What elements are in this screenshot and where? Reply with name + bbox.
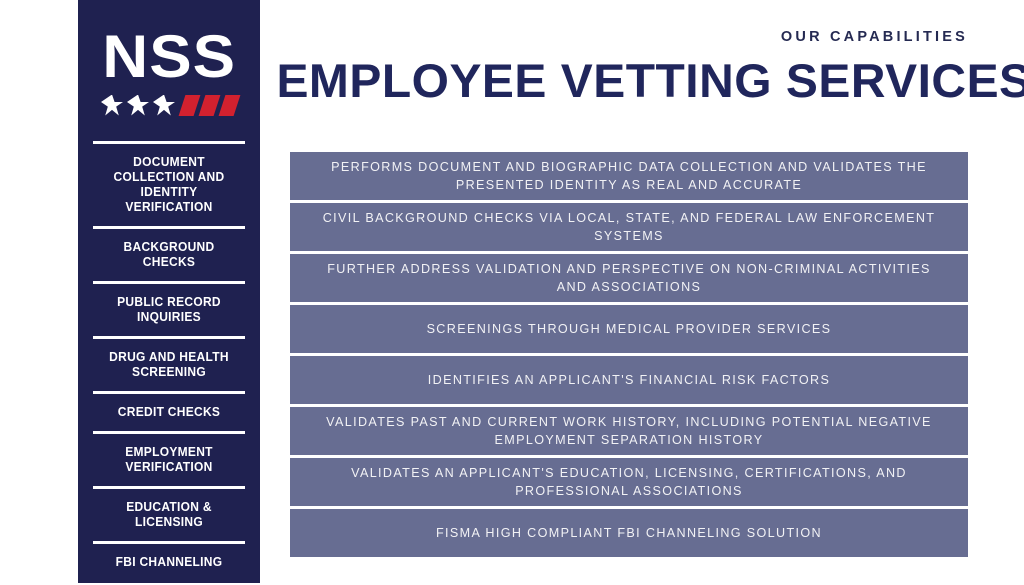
- star-icon: [101, 95, 123, 116]
- capability-bar-text: FISMA HIGH COMPLIANT FBI CHANNELING SOLU…: [436, 524, 822, 542]
- capability-bar-text: FURTHER ADDRESS VALIDATION AND PERSPECTI…: [316, 260, 942, 296]
- capability-bar[interactable]: FISMA HIGH COMPLIANT FBI CHANNELING SOLU…: [290, 509, 968, 557]
- capability-bar-text: CIVIL BACKGROUND CHECKS VIA LOCAL, STATE…: [316, 209, 942, 245]
- page-title: EMPLOYEE VETTING SERVICES: [276, 54, 968, 108]
- sidebar-item-employment-verification[interactable]: EMPLOYMENT VERIFICATION: [96, 434, 242, 486]
- sidebar-item-education-and-licensing[interactable]: EDUCATION & LICENSING: [96, 489, 242, 541]
- stripe-icon: [219, 95, 241, 116]
- stripes-icon: [182, 95, 237, 116]
- sidebar-item-credit-checks[interactable]: CREDIT CHECKS: [96, 394, 242, 431]
- capability-bar[interactable]: SCREENINGS THROUGH MEDICAL PROVIDER SERV…: [290, 305, 968, 353]
- sidebar: NSS DOCUMENT COLLECTION AND IDENTITY VER…: [78, 0, 260, 583]
- sidebar-item-drug-and-health-screening[interactable]: DRUG AND HEALTH SCREENING: [96, 339, 242, 391]
- capability-bar[interactable]: VALIDATES PAST AND CURRENT WORK HISTORY,…: [290, 407, 968, 455]
- capability-bar-text: PERFORMS DOCUMENT AND BIOGRAPHIC DATA CO…: [316, 158, 942, 194]
- logo-wordmark: NSS: [102, 26, 236, 88]
- capability-bar-text: VALIDATES PAST AND CURRENT WORK HISTORY,…: [316, 413, 942, 449]
- capability-bar-text: SCREENINGS THROUGH MEDICAL PROVIDER SERV…: [427, 320, 832, 338]
- slide-canvas: NSS DOCUMENT COLLECTION AND IDENTITY VER…: [0, 0, 1024, 585]
- stripe-icon: [199, 95, 221, 116]
- sidebar-item-document-collection[interactable]: DOCUMENT COLLECTION AND IDENTITY VERIFIC…: [96, 144, 242, 226]
- star-icon: [127, 95, 149, 116]
- capability-bar-text: VALIDATES AN APPLICANT'S EDUCATION, LICE…: [316, 464, 942, 500]
- nss-logo: NSS: [93, 26, 245, 116]
- stripe-icon: [179, 95, 201, 116]
- eyebrow-label: OUR CAPABILITIES: [290, 28, 968, 46]
- sidebar-item-background-checks[interactable]: BACKGROUND CHECKS: [96, 229, 242, 281]
- capability-bar-text: IDENTIFIES AN APPLICANT'S FINANCIAL RISK…: [428, 371, 830, 389]
- capability-bar[interactable]: FURTHER ADDRESS VALIDATION AND PERSPECTI…: [290, 254, 968, 302]
- capability-bar[interactable]: CIVIL BACKGROUND CHECKS VIA LOCAL, STATE…: [290, 203, 968, 251]
- capability-bar[interactable]: PERFORMS DOCUMENT AND BIOGRAPHIC DATA CO…: [290, 152, 968, 200]
- header: OUR CAPABILITIES EMPLOYEE VETTING SERVIC…: [290, 0, 968, 108]
- logo-emblem: [101, 94, 237, 116]
- capability-bar[interactable]: IDENTIFIES AN APPLICANT'S FINANCIAL RISK…: [290, 356, 968, 404]
- sidebar-nav-list: DOCUMENT COLLECTION AND IDENTITY VERIFIC…: [93, 141, 245, 581]
- sidebar-item-fbi-channeling[interactable]: FBI CHANNELING: [96, 544, 242, 581]
- sidebar-item-public-record-inquiries[interactable]: PUBLIC RECORD INQUIRIES: [96, 284, 242, 336]
- capability-bar[interactable]: VALIDATES AN APPLICANT'S EDUCATION, LICE…: [290, 458, 968, 506]
- capability-bar-list: PERFORMS DOCUMENT AND BIOGRAPHIC DATA CO…: [290, 152, 968, 557]
- star-icon: [153, 95, 175, 116]
